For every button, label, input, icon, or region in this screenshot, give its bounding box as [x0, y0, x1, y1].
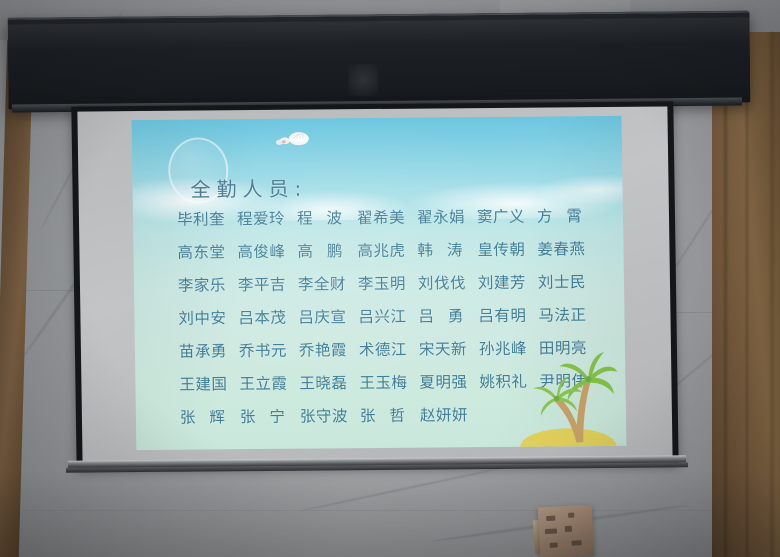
attendee-name: 夏明强	[419, 370, 479, 393]
attendee-name: 刘建芳	[478, 271, 538, 294]
name-row: 毕利奎程爱玲程波翟希美翟永娟窦广义方霄	[177, 204, 597, 241]
projection-screen: 全勤人员: 毕利奎程爱玲程波翟希美翟永娟窦广义方霄高东堂高俊峰高鹏高兆虎韩涛皇传…	[71, 101, 678, 470]
attendee-name: 王立霞	[239, 372, 299, 395]
attendee-name: 张辉	[180, 405, 240, 428]
attendee-name: 王玉梅	[359, 371, 419, 394]
attendee-name: 李平吉	[238, 273, 298, 296]
wood-panel-right	[712, 32, 780, 557]
attendee-name: 吕有明	[478, 304, 538, 327]
attendee-name: 张哲	[360, 404, 420, 427]
attendee-name: 高俊峰	[237, 240, 297, 263]
attendee-name: 王晓磊	[299, 371, 359, 394]
attendee-name: 翟永娟	[417, 205, 477, 228]
name-row: 李家乐李平吉李全财李玉明刘伐伐刘建芳刘士民	[178, 270, 598, 307]
attendee-name: 吕勇	[418, 304, 478, 327]
attendee-name: 苗承勇	[179, 339, 239, 362]
attendee-name: 宋天新	[419, 337, 479, 360]
seashell-icon	[276, 131, 310, 151]
attendee-name: 李玉明	[358, 272, 418, 295]
housing-smudge	[348, 64, 378, 96]
attendee-name: 吕庆宣	[298, 305, 358, 328]
attendee-name: 窦广义	[477, 205, 537, 228]
attendee-name: 方霄	[537, 204, 597, 227]
attendee-name: 吕本茂	[238, 306, 298, 329]
attendee-name: 马法正	[538, 303, 598, 326]
projector-screen-housing[interactable]	[8, 10, 751, 109]
attendee-name: 翟希美	[357, 206, 417, 229]
attendee-name: 刘士民	[538, 270, 598, 293]
name-row: 高东堂高俊峰高鹏高兆虎韩涛皇传朝姜春燕	[177, 237, 597, 274]
attendee-name: 高东堂	[177, 240, 237, 263]
attendee-name: 李家乐	[178, 273, 238, 296]
presentation-slide: 全勤人员: 毕利奎程爱玲程波翟希美翟永娟窦广义方霄高东堂高俊峰高鹏高兆虎韩涛皇传…	[132, 116, 627, 450]
attendee-name: 韩涛	[417, 238, 477, 261]
attendee-name: 高兆虎	[357, 239, 417, 262]
attendee-name: 高鹏	[297, 239, 357, 262]
attendee-name: 乔书元	[239, 339, 299, 362]
attendee-name: 李全财	[298, 272, 358, 295]
photo-scene: 全勤人员: 毕利奎程爱玲程波翟希美翟永娟窦广义方霄高东堂高俊峰高鹏高兆虎韩涛皇传…	[0, 0, 780, 557]
attendee-name: 吕兴江	[358, 305, 418, 328]
slide-title: 全勤人员:	[190, 173, 307, 203]
attendee-name: 刘中安	[178, 306, 238, 329]
attendee-name: 姜春燕	[537, 237, 597, 260]
screen-surface: 全勤人员: 毕利奎程爱玲程波翟希美翟永娟窦广义方霄高东堂高俊峰高鹏高兆虎韩涛皇传…	[77, 106, 672, 464]
cardboard-box	[538, 505, 595, 557]
attendee-name: 毕利奎	[177, 207, 237, 230]
attendee-name: 皇传朝	[477, 238, 537, 261]
attendee-name: 张宁	[240, 405, 300, 428]
housing-highlight	[8, 17, 750, 50]
attendee-name: 术德江	[359, 338, 419, 361]
attendee-name: 程波	[297, 206, 357, 229]
attendee-name: 张守波	[300, 404, 360, 427]
attendee-name: 乔艳霞	[299, 338, 359, 361]
attendee-name: 王建国	[179, 372, 239, 395]
attendee-name: 程爱玲	[237, 207, 297, 230]
attendee-name: 赵妍妍	[420, 403, 480, 426]
attendee-name: 刘伐伐	[418, 271, 478, 294]
name-row: 刘中安吕本茂吕庆宣吕兴江吕勇吕有明马法正	[178, 303, 598, 340]
palm-trees-icon	[509, 338, 621, 450]
